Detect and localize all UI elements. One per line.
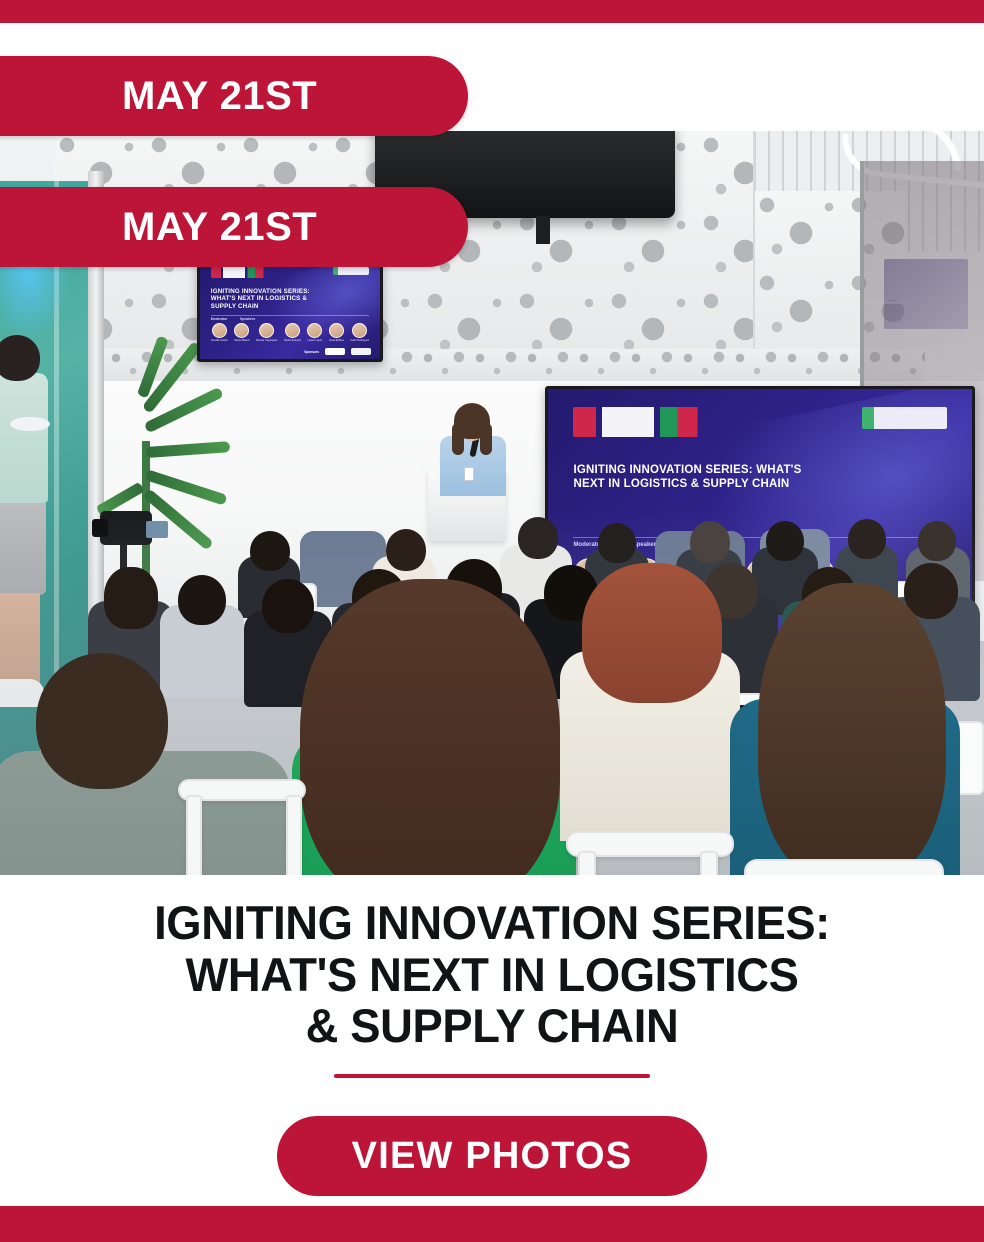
presentation-screen-left: IGNITING INNOVATION SERIES: WHAT'S NEXT … bbox=[197, 257, 383, 362]
attendee-head bbox=[36, 653, 168, 789]
title-line-2: WHAT'S NEXT IN LOGISTICS bbox=[186, 948, 799, 1001]
attendee-head bbox=[178, 575, 226, 625]
attendee-hair bbox=[300, 579, 560, 875]
speaker-name: Ronnie Capoquian bbox=[256, 340, 278, 343]
plant-frond bbox=[146, 441, 231, 458]
attendee-head bbox=[250, 531, 290, 571]
chair-leg bbox=[578, 851, 596, 875]
speaker-item: Carlo Rodriguez bbox=[350, 323, 369, 343]
standing-person-head bbox=[0, 335, 40, 381]
speaker-item: Marco Bisnar bbox=[234, 323, 249, 343]
page-title: IGNITING INNOVATION SERIES: WHAT'S NEXT … bbox=[17, 897, 967, 1052]
date-badge: MAY 21ST bbox=[0, 187, 468, 267]
top-brand-bar bbox=[0, 0, 984, 23]
date-badge-label: MAY 21ST bbox=[122, 74, 317, 119]
slide-sponsors: Sponsors bbox=[304, 348, 371, 355]
standing-person-torso bbox=[0, 373, 48, 503]
chair-rail bbox=[744, 859, 944, 875]
attendee-head bbox=[918, 521, 956, 561]
glass-reflection-slide bbox=[884, 259, 968, 329]
speaker-item: Ronnie Capoquian bbox=[256, 323, 278, 343]
attendee-head bbox=[848, 519, 886, 559]
speaker-name: Lester Lopez bbox=[307, 340, 322, 343]
slide-divider bbox=[211, 315, 369, 316]
attendee-head bbox=[386, 529, 426, 571]
presenter-badge bbox=[464, 467, 474, 481]
sponsor-logo-icon bbox=[351, 348, 371, 355]
chair-leg bbox=[286, 795, 302, 875]
bottom-brand-bar bbox=[0, 1206, 984, 1242]
speaker-name: Marco Bisnar bbox=[234, 340, 249, 343]
speaker-name: Anna Robles bbox=[329, 340, 344, 343]
slide-speaker-row: Camille Castro Marco Bisnar Ronnie Capoq… bbox=[211, 323, 369, 343]
avatar bbox=[234, 323, 249, 338]
slide-moderator-label: Moderator bbox=[211, 317, 228, 321]
avatar bbox=[307, 323, 322, 338]
chair-leg bbox=[186, 795, 202, 875]
chair-leg bbox=[700, 851, 718, 875]
sponsors-label: Sponsors bbox=[304, 350, 319, 354]
partner-logo-icon bbox=[333, 267, 369, 275]
event-logo-icon bbox=[211, 267, 272, 278]
speaker-item: Anna Robles bbox=[329, 323, 344, 343]
speaker-name: David Jimenez bbox=[284, 340, 301, 343]
view-photos-button[interactable]: VIEW PHOTOS bbox=[277, 1116, 707, 1196]
speaker-name: Camille Castro bbox=[211, 340, 228, 343]
title-divider bbox=[334, 1074, 650, 1078]
attendee-hair bbox=[758, 583, 946, 875]
attendee-hair bbox=[582, 563, 722, 703]
event-logo-icon bbox=[573, 407, 717, 436]
avatar bbox=[259, 323, 274, 338]
content-section: IGNITING INNOVATION SERIES: WHAT'S NEXT … bbox=[0, 875, 984, 1206]
projector-mount bbox=[536, 216, 550, 244]
attendee-hair bbox=[104, 567, 158, 629]
speaker-name: Carlo Rodriguez bbox=[350, 340, 369, 343]
speaker-item: Lester Lopez bbox=[307, 323, 322, 343]
hero-photo: IGNITING INNOVATION SERIES: WHAT'S NEXT … bbox=[0, 131, 984, 875]
partner-logo-icon bbox=[862, 407, 947, 428]
attendee-head bbox=[518, 517, 558, 559]
avatar bbox=[285, 323, 300, 338]
attendee-head bbox=[766, 521, 804, 561]
slide-title: IGNITING INNOVATION SERIES: WHAT'S NEXT … bbox=[211, 288, 323, 311]
slide-title: IGNITING INNOVATION SERIES: WHAT'S NEXT … bbox=[573, 463, 836, 491]
slide-role-labels: Moderator Speakers bbox=[211, 317, 369, 321]
slide-speakers-label: Speakers bbox=[240, 317, 255, 321]
avatar bbox=[352, 323, 367, 338]
attendee-head bbox=[598, 523, 636, 563]
attendee-head bbox=[262, 579, 314, 633]
sponsor-logo-icon bbox=[325, 348, 345, 355]
attendee-head bbox=[690, 521, 730, 563]
date-badge-label: MAY 21ST bbox=[122, 205, 317, 250]
speaker-item: David Jimenez bbox=[284, 323, 301, 343]
title-line-3: & SUPPLY CHAIN bbox=[306, 999, 679, 1052]
avatar bbox=[212, 323, 227, 338]
title-line-1: IGNITING INNOVATION SERIES: bbox=[154, 896, 830, 949]
presenter-hair bbox=[454, 403, 490, 439]
date-badge-overlay: MAY 21ST bbox=[0, 56, 468, 136]
standing-person-plate bbox=[10, 417, 50, 431]
avatar bbox=[329, 323, 344, 338]
speaker-item: Camille Castro bbox=[211, 323, 228, 343]
